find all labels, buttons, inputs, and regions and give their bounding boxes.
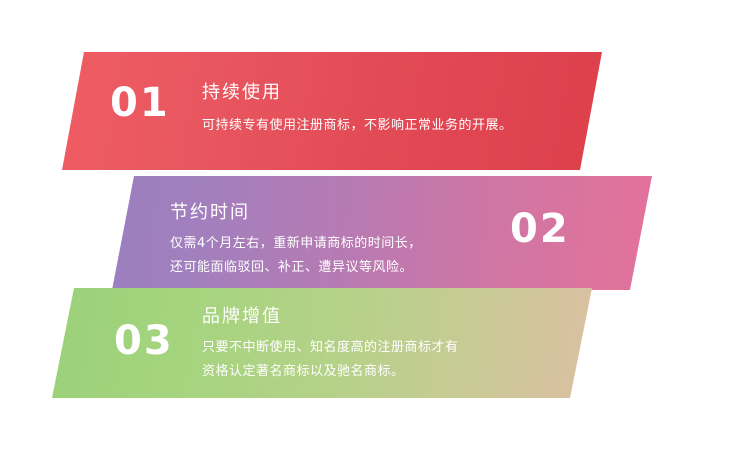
diagram-canvas: 01 持续使用 可持续专有使用注册商标，不影响正常业务的开展。 节约时间 仅需4… [0,0,744,454]
banner-item-01[interactable]: 01 持续使用 可持续专有使用注册商标，不影响正常业务的开展。 [62,52,602,170]
banner-title-01: 持续使用 [202,78,282,104]
banner-number-02: 02 [510,206,570,252]
banner-number-01: 01 [110,80,170,126]
banner-item-02[interactable]: 节约时间 仅需4个月左右，重新申请商标的时间长， 还可能面临驳回、补正、遭异议等… [112,176,652,290]
banner-item-03[interactable]: 03 品牌增值 只要不中断使用、知名度高的注册商标才有 资格认定著名商标以及驰名… [52,288,592,398]
banner-title-02: 节约时间 [170,198,250,224]
banner-number-03: 03 [114,318,174,364]
banner-text-01-line-1: 可持续专有使用注册商标，不影响正常业务的开展。 [202,114,513,133]
banner-title-03: 品牌增值 [202,302,282,328]
banner-text-03-line-2: 资格认定著名商标以及驰名商标。 [202,360,405,379]
banner-text-02-line-2: 还可能面临驳回、补正、遭异议等风险。 [170,256,413,275]
banner-text-02-line-1: 仅需4个月左右，重新申请商标的时间长， [170,232,422,251]
banner-text-03-line-1: 只要不中断使用、知名度高的注册商标才有 [202,336,459,355]
